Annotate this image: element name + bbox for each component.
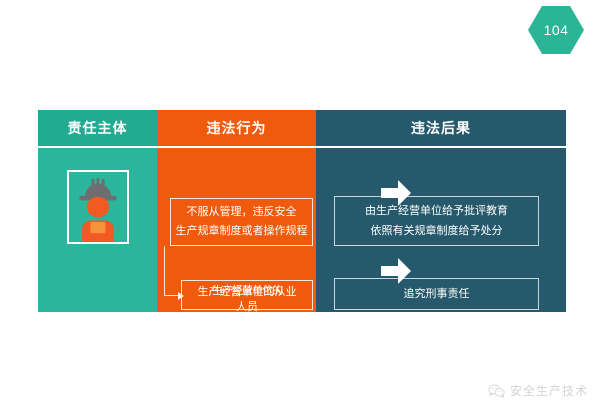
behavior-box-1: 不服从管理，违反安全 生产规章制度或者操作规程 xyxy=(170,198,313,246)
column-header-illegal-behavior: 违法行为 xyxy=(157,110,316,146)
column-illegal-behavior: 违法行为 不服从管理，违反安全 生产规章制度或者操作规程 生产经营单位的从业 生… xyxy=(157,110,316,312)
flow-arrow-1-icon xyxy=(381,180,411,206)
watermark-label: 安全生产技术 xyxy=(510,382,588,399)
consequence-box-2: 追究刑事责任 xyxy=(334,278,539,310)
column-body-responsible-subject xyxy=(38,148,157,312)
hexagon-shape: 104 xyxy=(528,6,584,54)
column-header-legal-consequence: 违法后果 xyxy=(316,110,566,146)
watermark: 安全生产技术 xyxy=(488,382,588,399)
consequence-box-2-line-1: 追究刑事责任 xyxy=(404,284,470,304)
column-header-responsible-subject: 责任主体 xyxy=(38,110,157,146)
elbow-vertical-segment xyxy=(164,246,165,295)
violation-flow-chart: 责任主体 xyxy=(38,110,566,312)
behavior-box-2-overlay-c: 人员 xyxy=(182,298,312,317)
column-body-illegal-behavior: 不服从管理，违反安全 生产规章制度或者操作规程 生产经营单位的从业 生产经营单位… xyxy=(157,148,316,312)
column-body-legal-consequence: 由生产经营单位给予批评教育 依照有关规章制度给予处分 追究刑事责任 xyxy=(316,148,566,312)
construction-worker-icon xyxy=(69,172,127,242)
behavior-box-2: 生产经营单位的从业 生产经营单位的 人员 xyxy=(181,280,313,310)
behavior-box-1-line-1: 不服从管理，违反安全 xyxy=(187,203,297,222)
worker-icon-frame xyxy=(67,170,129,244)
consequence-box-1-line-2: 依照有关规章制度给予处分 xyxy=(371,221,503,241)
flow-arrow-2-icon xyxy=(381,258,411,284)
column-legal-consequence: 违法后果 由生产经营单位给予批评教育 依照有关规章制度给予处分 追究刑事责任 xyxy=(316,110,566,312)
behavior-box-1-line-2: 生产规章制度或者操作规程 xyxy=(176,222,308,241)
wechat-icon xyxy=(488,384,505,398)
column-responsible-subject: 责任主体 xyxy=(38,110,157,312)
behavior-box-2-overlap-wrap: 生产经营单位的从业 生产经营单位的 人员 xyxy=(182,281,312,309)
page-number-badge: 104 xyxy=(528,6,584,54)
consequence-box-1: 由生产经营单位给予批评教育 依照有关规章制度给予处分 xyxy=(334,196,539,246)
page-number-label: 104 xyxy=(544,22,569,38)
